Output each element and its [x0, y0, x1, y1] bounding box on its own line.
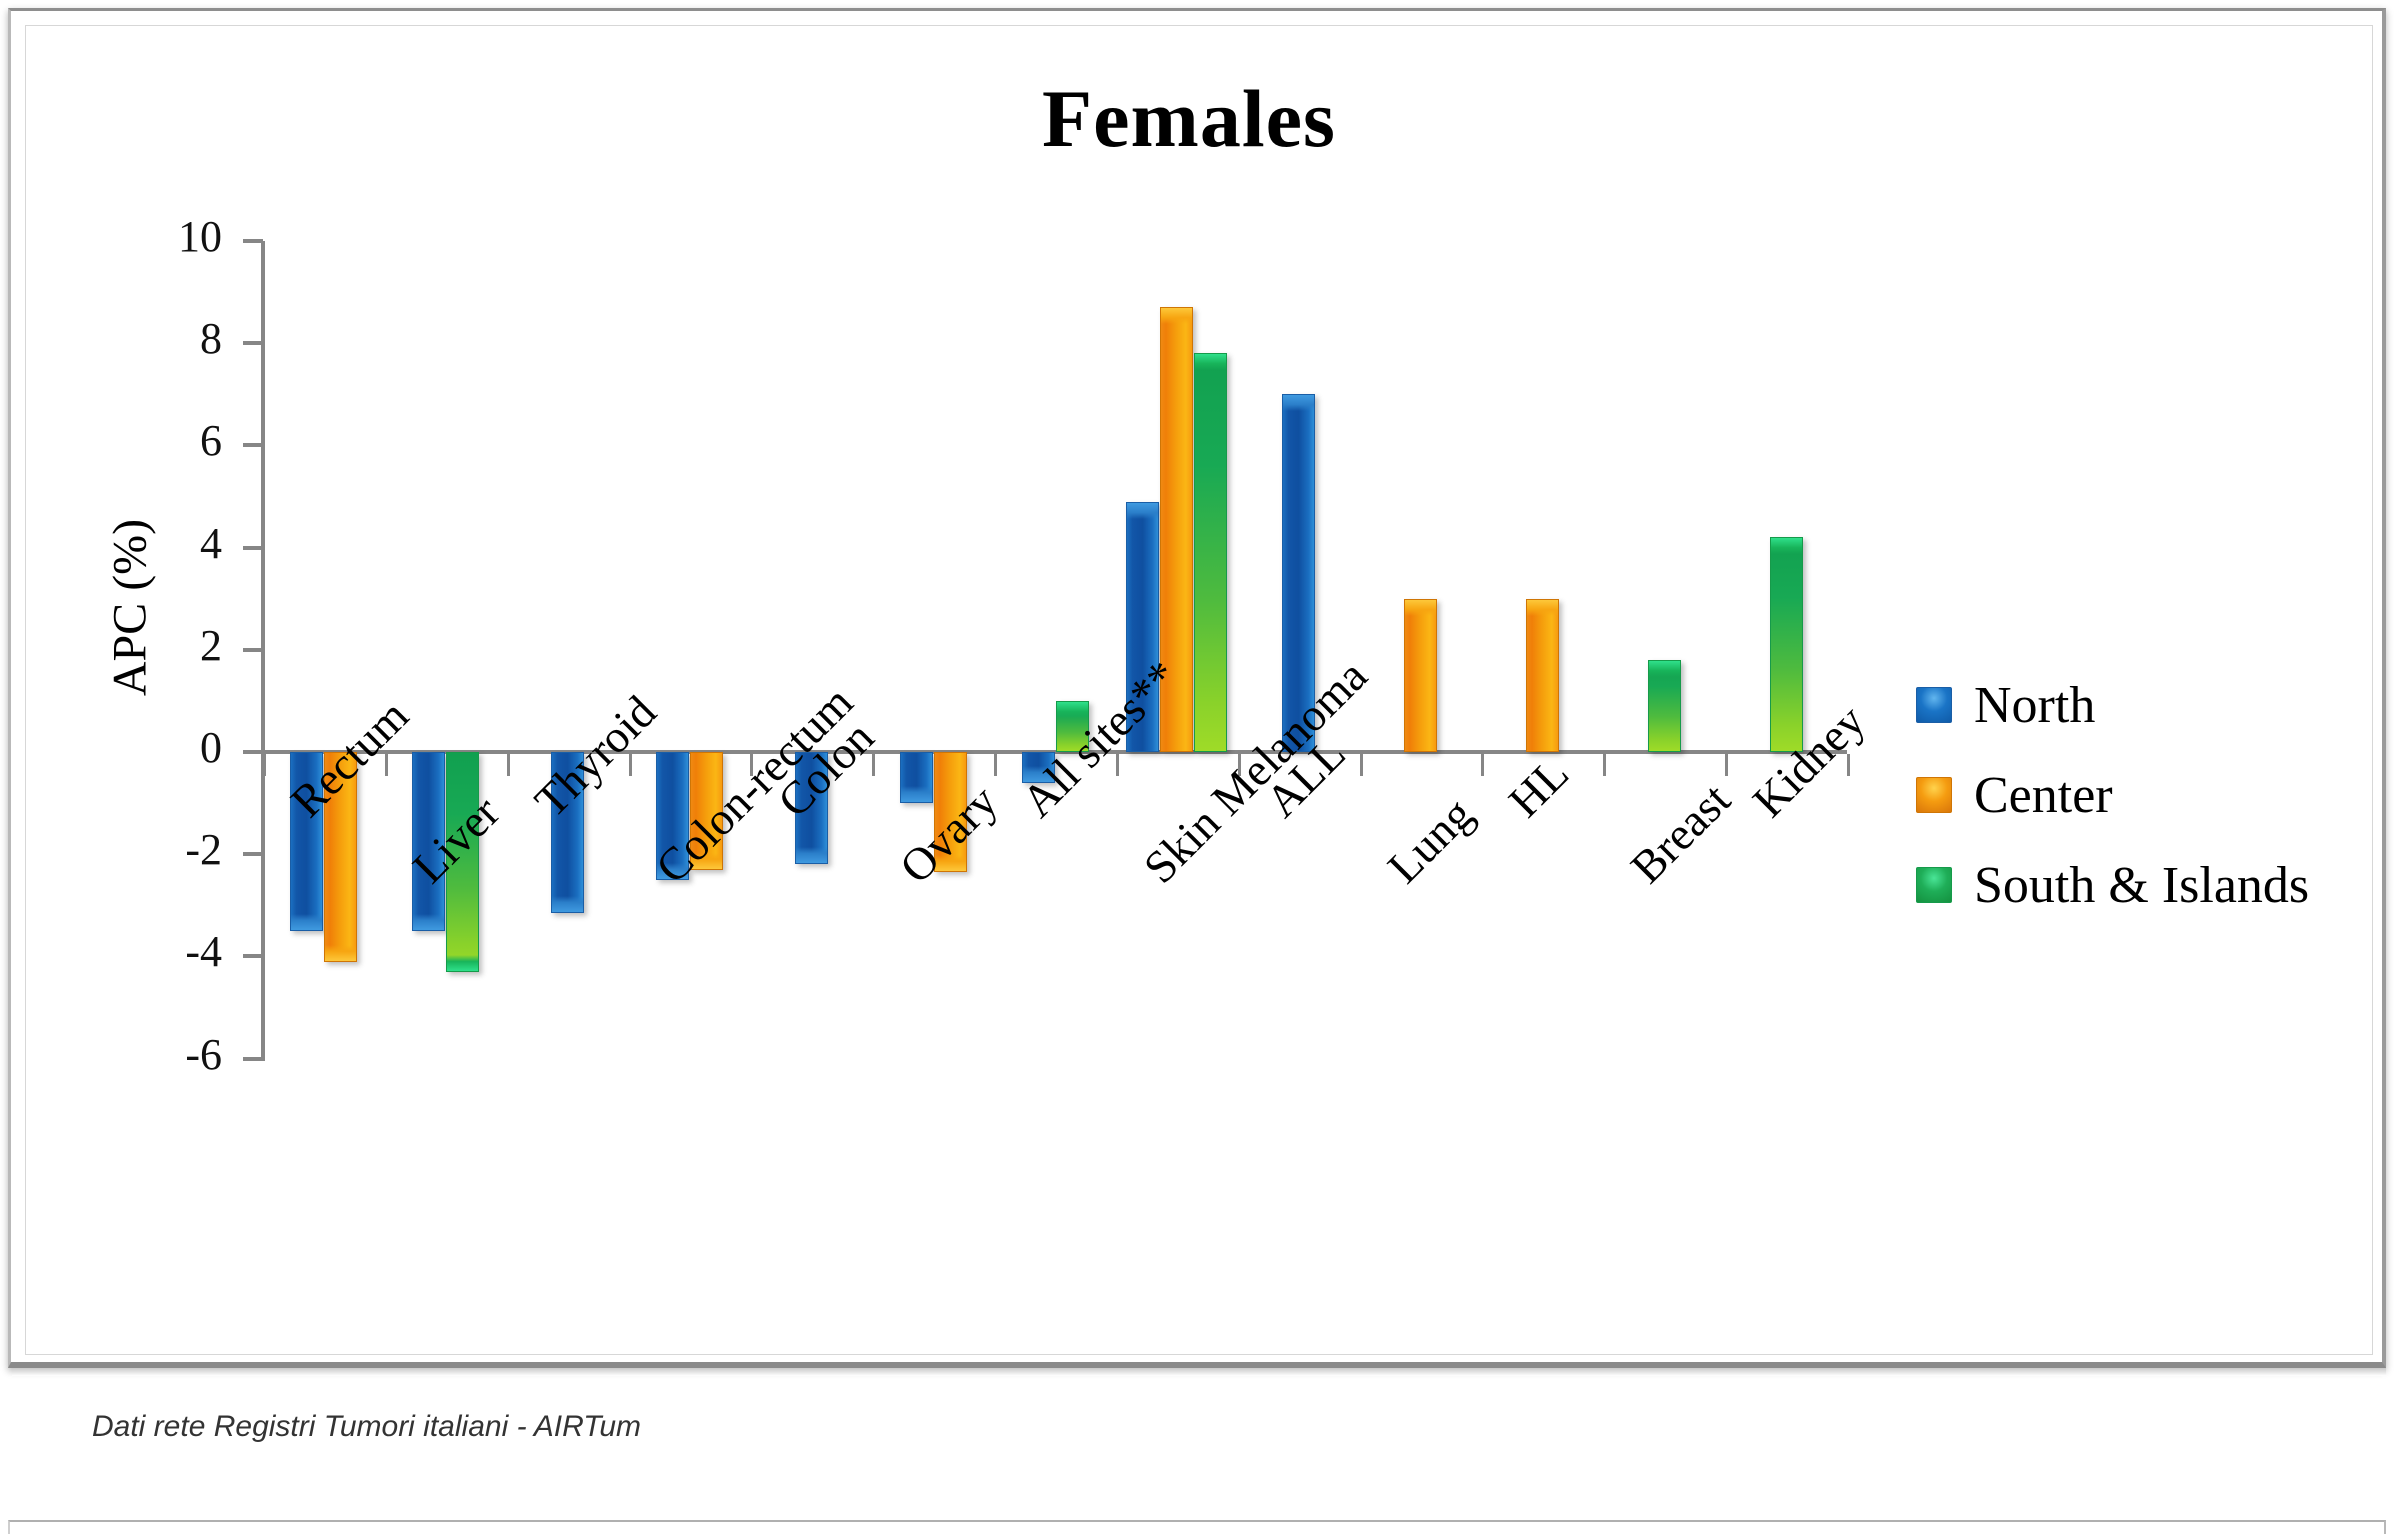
y-axis-tick — [243, 852, 263, 856]
bar-cap — [1161, 308, 1192, 324]
bar-cap — [901, 786, 932, 802]
y-axis-tick — [243, 1057, 263, 1061]
x-axis-label-10: HL — [1498, 747, 1579, 828]
x-axis-tick — [1603, 754, 1606, 776]
bar-cap — [325, 945, 356, 961]
y-axis-tick-label: 8 — [112, 313, 222, 364]
legend-label: Center — [1974, 766, 2113, 825]
chart-legend: NorthCenterSouth & Islands — [1916, 660, 2309, 930]
bar-cap — [1127, 503, 1158, 519]
y-axis-tick — [243, 239, 263, 243]
x-axis-label-2: Thyroid — [524, 685, 666, 827]
bar-cap — [552, 896, 583, 912]
bar-south-12 — [1770, 537, 1803, 752]
y-axis-tick — [243, 750, 263, 754]
bar-cap — [447, 955, 478, 971]
bar-cap — [413, 914, 444, 930]
x-axis-label-12: Kidney — [1742, 694, 1875, 827]
x-axis-tick — [1481, 754, 1484, 776]
footer-source-note: Dati rete Registri Tumori italiani - AIR… — [92, 1410, 641, 1444]
bar-cap — [1057, 702, 1088, 718]
y-axis-tick — [243, 443, 263, 447]
x-axis-tick — [507, 754, 510, 776]
bar-south-11 — [1648, 660, 1681, 752]
bar-cap — [1283, 395, 1314, 411]
y-axis-tick-label: 10 — [112, 211, 222, 262]
x-axis-label-11: Breast — [1620, 773, 1741, 894]
bar-cap — [796, 847, 827, 863]
x-axis-label-9: Lung — [1377, 787, 1483, 893]
legend-item-center[interactable]: Center — [1916, 750, 2309, 840]
y-axis-tick — [243, 341, 263, 345]
bar-cap — [1405, 600, 1436, 616]
bar-center-10 — [1526, 599, 1559, 752]
y-axis-title: APC (%) — [103, 458, 158, 758]
bar-south-7 — [1194, 353, 1227, 752]
x-axis-tick — [1360, 754, 1363, 776]
legend-item-north[interactable]: North — [1916, 660, 2309, 750]
bar-north-5 — [900, 752, 933, 803]
bar-cap — [1649, 661, 1680, 677]
legend-item-south[interactable]: South & Islands — [1916, 840, 2309, 930]
slide-page: Females 1086420-2-4-6 RectumLiverThyroid… — [0, 0, 2402, 1540]
y-axis-tick — [243, 648, 263, 652]
legend-swatch-north-icon — [1916, 687, 1952, 723]
y-axis-tick — [243, 546, 263, 550]
bar-cap — [1771, 538, 1802, 554]
y-axis-tick-label: -4 — [112, 926, 222, 977]
x-axis-tick — [1725, 754, 1728, 776]
y-axis-tick-label: -2 — [112, 824, 222, 875]
x-axis-tick — [994, 754, 997, 776]
bar-cap — [291, 914, 322, 930]
bar-cap — [1527, 600, 1558, 616]
legend-swatch-south-icon — [1916, 867, 1952, 903]
legend-swatch-center-icon — [1916, 777, 1952, 813]
bar-center-9 — [1404, 599, 1437, 752]
legend-label: South & Islands — [1974, 856, 2309, 915]
x-axis-tick — [263, 754, 266, 776]
legend-label: North — [1974, 676, 2095, 735]
bar-cap — [1195, 354, 1226, 370]
y-axis-tick-label: -6 — [112, 1029, 222, 1080]
y-axis-tick — [243, 954, 263, 958]
